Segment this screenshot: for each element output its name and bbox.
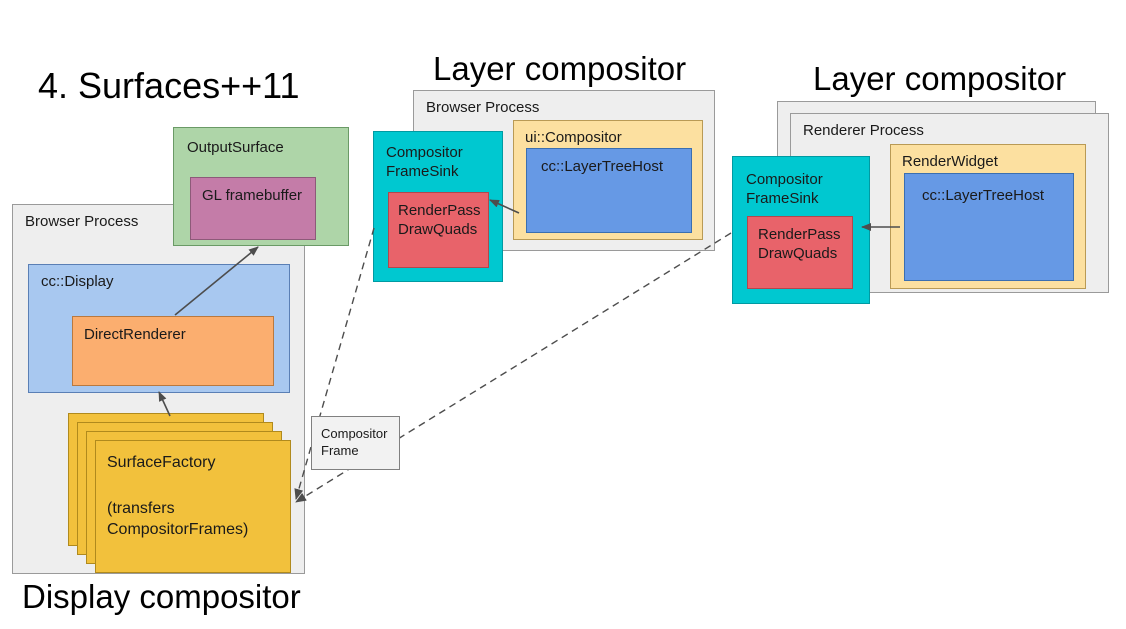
heading-middle-layer-compositor: Layer compositor xyxy=(433,52,686,85)
output-surface-title: OutputSurface xyxy=(187,139,284,156)
left-browser-process-title: Browser Process xyxy=(25,213,138,230)
compositor-frame-label-box: Compositor Frame xyxy=(311,416,400,470)
middle-renderpass-drawquads-label: RenderPass DrawQuads xyxy=(398,202,481,240)
gl-framebuffer-box: GL framebuffer xyxy=(190,177,316,240)
middle-browser-process-title: Browser Process xyxy=(426,99,539,116)
diagram-canvas: 4. Surfaces++11 Layer compositor Layer c… xyxy=(0,0,1126,629)
heading-display-compositor: Display compositor xyxy=(22,580,301,613)
renderer-process-title: Renderer Process xyxy=(803,122,924,139)
middle-compositor-frame-sink-title: Compositor FrameSink xyxy=(386,144,463,182)
render-widget-title: RenderWidget xyxy=(902,153,998,170)
right-cc-layertreehost-label: cc::LayerTreeHost xyxy=(922,187,1044,206)
ui-compositor-title: ui::Compositor xyxy=(525,129,622,146)
heading-right-layer-compositor: Layer compositor xyxy=(813,62,1066,95)
slide-title: 4. Surfaces++11 xyxy=(38,68,300,104)
direct-renderer-box: DirectRenderer xyxy=(72,316,274,386)
compositor-frame-label: Compositor Frame xyxy=(321,426,387,460)
right-compositor-frame-sink-title: Compositor FrameSink xyxy=(746,171,823,209)
surface-factory-note: (transfers CompositorFrames) xyxy=(107,499,248,541)
middle-cc-layertreehost-label: cc::LayerTreeHost xyxy=(541,158,663,177)
surface-factory-box: SurfaceFactory (transfers CompositorFram… xyxy=(95,440,291,573)
direct-renderer-label: DirectRenderer xyxy=(84,326,186,345)
right-cc-layertreehost-box: cc::LayerTreeHost xyxy=(904,173,1074,281)
middle-renderpass-drawquads-box: RenderPass DrawQuads xyxy=(388,192,489,268)
gl-framebuffer-label: GL framebuffer xyxy=(202,187,302,206)
right-renderpass-drawquads-label: RenderPass DrawQuads xyxy=(758,226,841,264)
surface-factory-title: SurfaceFactory xyxy=(107,454,215,472)
middle-cc-layertreehost-box: cc::LayerTreeHost xyxy=(526,148,692,233)
right-renderpass-drawquads-box: RenderPass DrawQuads xyxy=(747,216,853,289)
cc-display-title: cc::Display xyxy=(41,273,114,290)
